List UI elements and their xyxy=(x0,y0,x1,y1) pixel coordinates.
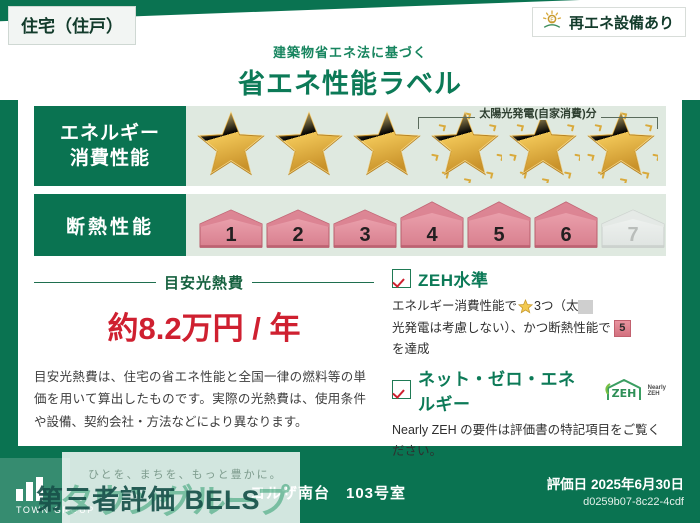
insulation-grade-1: 1 xyxy=(198,208,264,250)
utility-cost-heading: 目安光熱費 xyxy=(34,272,374,293)
insulation-performance-row: 断熱性能 1 2 xyxy=(34,194,666,256)
check-header: ZEH水準 xyxy=(392,266,666,291)
check-text: Nearly ZEH の要件は評価書の特記項目をご覧ください。 xyxy=(392,420,666,463)
insulation-grade-7: 7 xyxy=(600,208,666,250)
grade-number: 5 xyxy=(466,224,532,247)
zeh-logo-sub1: Nearly xyxy=(648,385,666,391)
renewable-energy-badge: E 再エネ設備あり xyxy=(532,7,686,37)
logo-bar-1 xyxy=(16,489,23,501)
energy-performance-row: エネルギー 消費性能 xyxy=(34,106,666,186)
property-name: コルザ南台 103号室 xyxy=(250,482,406,503)
evaluation-info: 評価日 2025年6月30日 d0259b07-8c22-4cdf xyxy=(547,473,684,508)
logo-mark xyxy=(16,477,95,501)
insulation-grade-3: 3 xyxy=(332,208,398,250)
utility-cost-value: 約8.2万円 / 年 xyxy=(34,303,374,348)
check-description: エネルギー消費性能で 3つ（太光発電は考慮しない）、かつ断熱性能で5を達成 xyxy=(392,296,666,361)
evaluation-id: d0259b07-8c22-4cdf xyxy=(547,496,684,508)
label-card: エネルギー 消費性能 xyxy=(18,88,682,446)
svg-text:E: E xyxy=(550,17,554,23)
logo-bar-3 xyxy=(36,477,43,501)
evaluation-date: 評価日 2025年6月30日 xyxy=(547,473,684,493)
grade-number: 6 xyxy=(533,224,599,247)
energy-label-line1: エネルギー xyxy=(60,121,160,146)
insulation-label-text: 断熱性能 xyxy=(66,212,154,239)
grade-number: 4 xyxy=(399,224,465,247)
utility-cost-section: 目安光熱費 約8.2万円 / 年 目安光熱費は、住宅の省エネ性能と全国一律の燃料… xyxy=(34,266,374,432)
redacted-block xyxy=(578,300,593,314)
footer-bar: TOWN GROUP コルザ南台 103号室 評価日 2025年6月30日 d0… xyxy=(0,463,700,523)
zeh-logo: ZEH Nearly ZEH xyxy=(602,378,666,402)
dwelling-type-tag: 住宅（住戸） xyxy=(8,6,136,45)
check-description: Nearly ZEH の要件は評価書の特記項目をご覧ください。 xyxy=(392,420,666,463)
grade-number: 2 xyxy=(265,224,331,247)
grade-number: 1 xyxy=(198,224,264,247)
insulation-grade-4: 4 xyxy=(399,200,465,250)
insulation-performance-label: 断熱性能 xyxy=(34,194,186,256)
svg-text:ZEH: ZEH xyxy=(611,387,636,400)
heading-rule-left xyxy=(34,282,156,283)
solar-bracket-label: 太陽光発電(自家消費)分 xyxy=(418,105,658,121)
check-title: ZEH水準 xyxy=(418,266,489,291)
utility-cost-label: 目安光熱費 xyxy=(164,272,244,293)
energy-performance-label: エネルギー 消費性能 xyxy=(34,106,186,186)
check-text: エネルギー消費性能で xyxy=(392,296,517,318)
logo-bar-2 xyxy=(26,482,33,501)
label-title: 建築物省エネ法に基づく 省エネ性能ラベル xyxy=(0,42,700,101)
energy-label-line2: 消費性能 xyxy=(70,146,150,171)
heading-rule-right xyxy=(252,282,374,283)
town-group-logo: TOWN GROUP xyxy=(16,477,95,515)
insulation-grade-scale: 1 2 3 xyxy=(186,194,666,256)
check-text: 光発電は考慮しない）、かつ断熱性能で xyxy=(392,318,611,340)
check-text: を達成 xyxy=(392,339,430,361)
solar-bracket-text: 太陽光発電(自家消費)分 xyxy=(475,108,600,120)
check-header: ネット・ゼロ・エネルギー ZEH Nearly ZEH xyxy=(392,365,666,415)
insulation-grade-5: 5 xyxy=(466,200,532,250)
energy-performance-body: 太陽光発電(自家消費)分 xyxy=(186,106,666,186)
energy-label-document: 住宅（住戸） E 再エネ設備あり 建築物省エネ法に基づく 省エネ性能ラベル xyxy=(0,0,700,523)
star-3 xyxy=(350,109,426,183)
check-text: 3つ（太 xyxy=(534,296,578,318)
insulation-grade-2: 2 xyxy=(265,208,331,250)
utility-cost-note: 目安光熱費は、住宅の省エネ性能と全国一律の燃料等の単価を用いて算出したものです。… xyxy=(34,366,374,433)
checkbox-checked[interactable] xyxy=(392,269,411,288)
certification-check-2: ネット・ゼロ・エネルギー ZEH Nearly ZEH Nearly ZEH の… xyxy=(392,365,666,463)
zeh-logo-sub2: ZEH xyxy=(648,391,660,397)
logo-text: TOWN GROUP xyxy=(16,505,95,515)
insulation-performance-body: 1 2 3 xyxy=(186,194,666,256)
certification-checks: ZEH水準 エネルギー消費性能で 3つ（太光発電は考慮しない）、かつ断熱性能で5… xyxy=(374,266,666,432)
grade-number: 7 xyxy=(600,224,666,247)
star-2 xyxy=(272,109,348,183)
renewable-badge-label: 再エネ設備あり xyxy=(569,12,674,33)
star-1 xyxy=(194,109,270,183)
checkbox-checked[interactable] xyxy=(392,380,411,399)
title-main: 省エネ性能ラベル xyxy=(0,62,700,101)
check-title: ネット・ゼロ・エネルギー xyxy=(418,365,590,415)
sun-icon: E xyxy=(541,10,563,35)
insulation-grade-6: 6 xyxy=(533,200,599,250)
inline-grade-badge: 5 xyxy=(614,320,631,337)
inline-star-icon xyxy=(518,299,533,314)
certification-check-1: ZEH水準 エネルギー消費性能で 3つ（太光発電は考慮しない）、かつ断熱性能で5… xyxy=(392,266,666,361)
lower-section: 目安光熱費 約8.2万円 / 年 目安光熱費は、住宅の省エネ性能と全国一律の燃料… xyxy=(34,266,666,432)
grade-number: 3 xyxy=(332,224,398,247)
